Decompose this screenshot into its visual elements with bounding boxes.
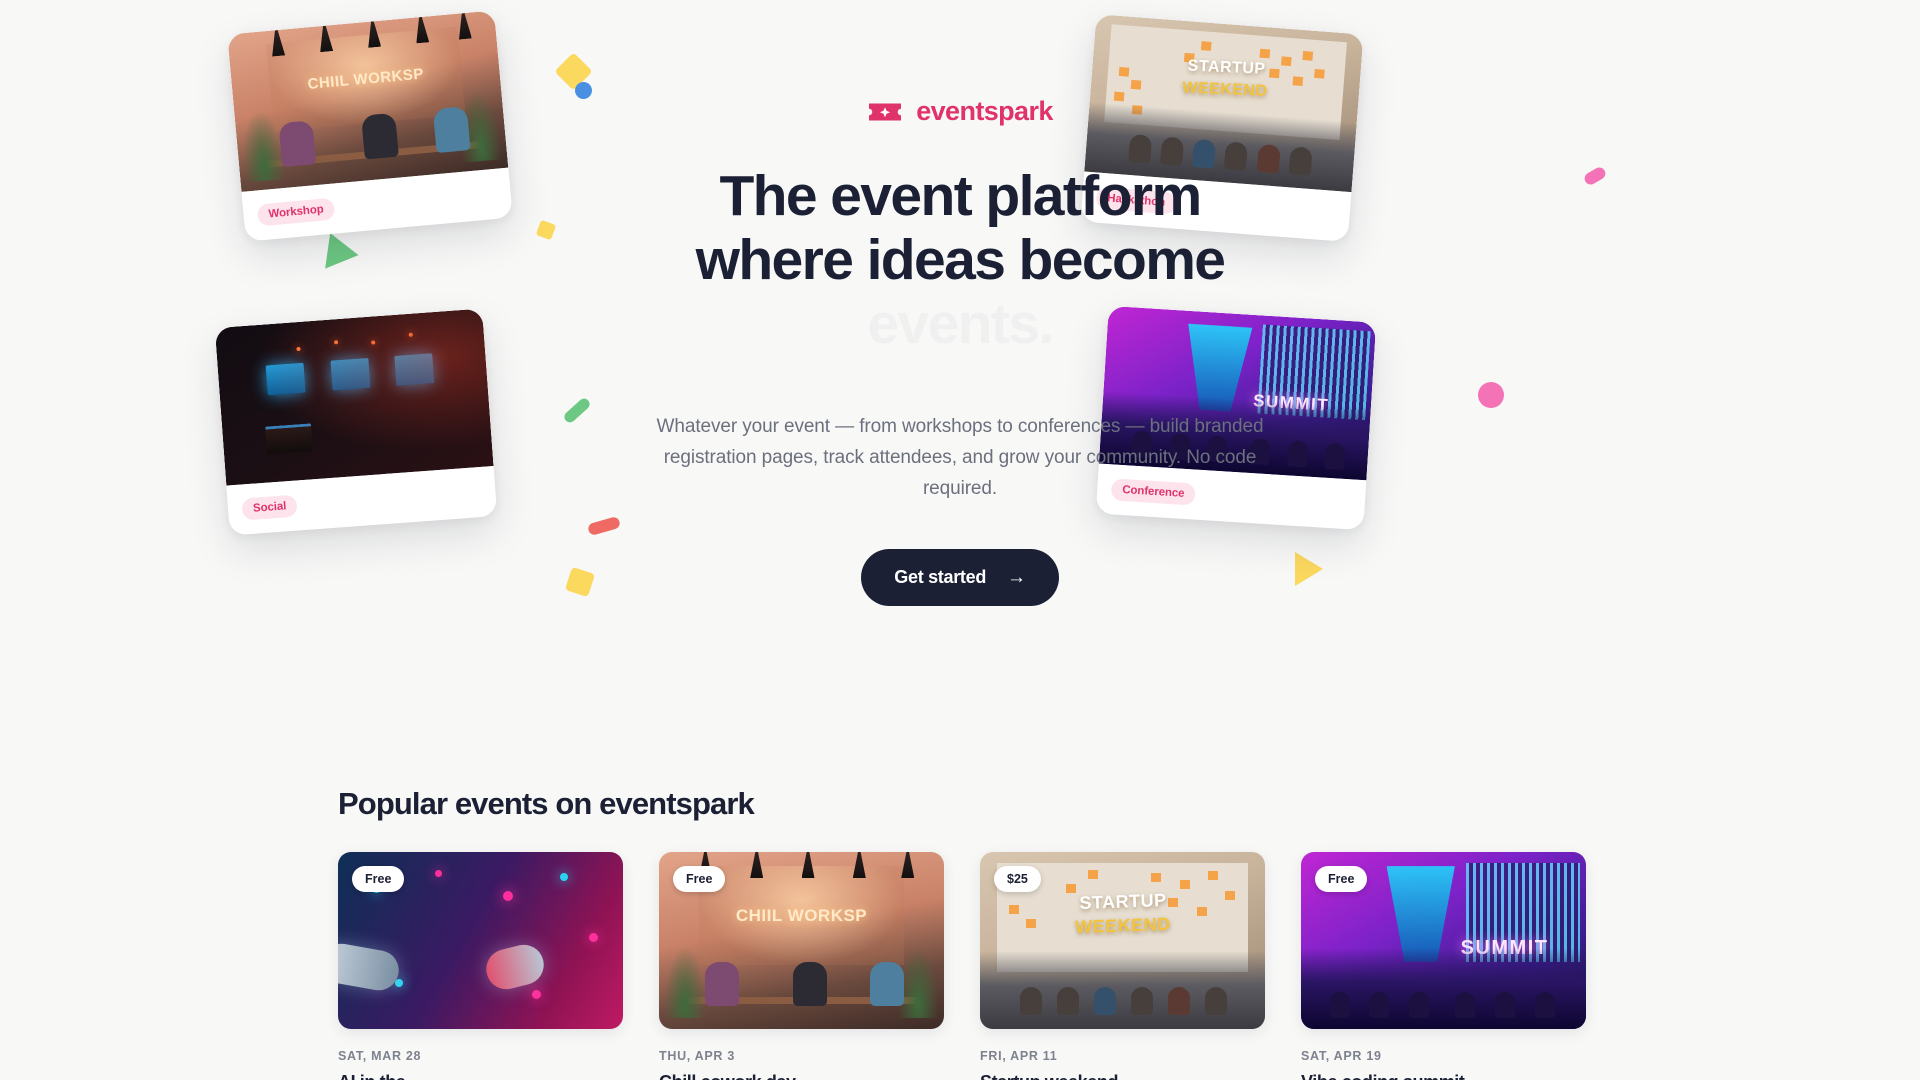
headline-line-3: events. xyxy=(867,292,1052,356)
event-card[interactable]: Free SAT, MAR 28 AI in the xyxy=(338,852,623,1080)
card-photo-coworking: CHIIL WORKSP xyxy=(227,10,508,192)
card-badge-social: Social xyxy=(241,495,298,521)
coral-bar-decoration xyxy=(587,516,621,536)
event-date: SAT, APR 19 xyxy=(1301,1049,1586,1063)
event-name: Vibe coding summit xyxy=(1301,1072,1586,1080)
page-title: The event platform where ideas become ev… xyxy=(640,165,1280,356)
thumbnail-caption-top: STARTUP xyxy=(1079,890,1167,914)
thumbnail-caption: CHIIL WORKSP xyxy=(736,906,867,926)
floating-card-social[interactable]: Social xyxy=(215,308,498,535)
green-bar-decoration xyxy=(562,396,592,424)
event-card[interactable]: $25 STARTUP WEEKEND xyxy=(980,852,1265,1080)
get-started-button[interactable]: Get started → xyxy=(861,549,1058,606)
pink-bar-decoration xyxy=(1582,165,1607,186)
yellow-square-decoration-b xyxy=(565,567,595,597)
brand-logo[interactable]: eventspark xyxy=(640,96,1280,127)
event-date: THU, APR 3 xyxy=(659,1049,944,1063)
hero-subheadline: Whatever your event — from workshops to … xyxy=(640,412,1280,504)
card-photo-dark-room xyxy=(215,308,494,485)
event-price-badge: Free xyxy=(1315,866,1367,892)
event-name: Startup weekend xyxy=(980,1072,1265,1080)
event-date: FRI, APR 11 xyxy=(980,1049,1265,1063)
event-thumbnail-summit: Free SUMMIT xyxy=(1301,852,1586,1029)
event-price-badge: $25 xyxy=(994,866,1041,892)
floating-card-workshop[interactable]: CHIIL WORKSP Workshop xyxy=(227,10,513,241)
pink-circle-decoration-b xyxy=(1478,382,1504,408)
card-photo-caption-top: STARTUP xyxy=(1187,58,1266,79)
event-name: AI in the xyxy=(338,1072,623,1080)
headline-line-2: where ideas become xyxy=(696,228,1225,292)
event-date: SAT, MAR 28 xyxy=(338,1049,623,1063)
event-thumbnail-startup-weekend: $25 STARTUP WEEKEND xyxy=(980,852,1265,1029)
brand-name: eventspark xyxy=(916,96,1053,127)
get-started-label: Get started xyxy=(894,567,986,588)
event-card[interactable]: Free CHIIL WORKSP THU, APR 3 xyxy=(659,852,944,1080)
event-price-badge: Free xyxy=(352,866,404,892)
event-name: Chill cowork day xyxy=(659,1072,944,1080)
yellow-triangle-decoration xyxy=(1295,552,1323,586)
thumbnail-caption-bottom: WEEKEND xyxy=(1074,914,1170,938)
arrow-right-icon: → xyxy=(1007,568,1026,587)
blue-circle-decoration xyxy=(575,82,592,99)
headline-line-1: The event platform xyxy=(719,164,1200,228)
card-badge-workshop: Workshop xyxy=(257,198,336,227)
page-root: CHIIL WORKSP Workshop xyxy=(0,0,1920,1080)
event-thumbnail-coworking: Free CHIIL WORKSP xyxy=(659,852,944,1029)
yellow-square-decoration-a xyxy=(536,220,557,241)
popular-events-title: Popular events on eventspark xyxy=(338,786,754,822)
popular-events-grid: Free SAT, MAR 28 AI in the xyxy=(338,852,1586,1080)
hero-section: CHIIL WORKSP Workshop xyxy=(0,0,1920,700)
ticket-sparkle-icon xyxy=(867,99,903,125)
hero-content: eventspark The event platform where idea… xyxy=(640,96,1280,606)
event-price-badge: Free xyxy=(673,866,725,892)
event-card[interactable]: Free SUMMIT SAT, APR 19 Vibe coding summ… xyxy=(1301,852,1586,1080)
event-thumbnail-ai: Free xyxy=(338,852,623,1029)
